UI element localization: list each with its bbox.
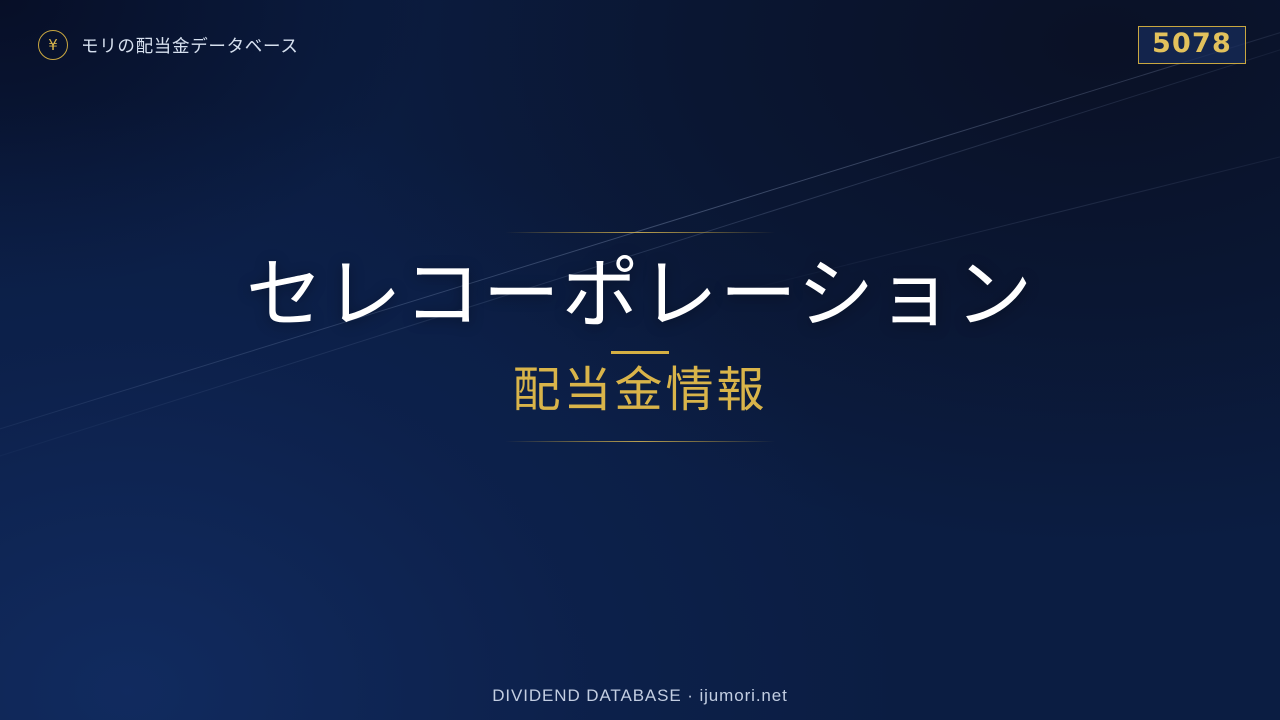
brand-logo[interactable]: ¥ モリの配当金データベース	[38, 30, 299, 60]
header-bar: ¥ モリの配当金データベース 5078	[0, 0, 1280, 90]
brand-name-label: モリの配当金データベース	[81, 33, 299, 58]
page-subtitle: 配当金情報	[512, 364, 767, 418]
title-top-rule	[505, 232, 775, 233]
slide-canvas: ¥ モリの配当金データベース 5078 セレコーポレーション 配当金情報 DIV…	[0, 0, 1280, 720]
title-bottom-rule	[505, 441, 775, 442]
title-block: セレコーポレーション 配当金情報	[0, 232, 1280, 442]
title-divider-bar	[611, 351, 669, 354]
footer-attribution: DIVIDEND DATABASE · ijumori.net	[0, 686, 1280, 706]
company-name-title: セレコーポレーション	[246, 255, 1034, 337]
yen-circle-icon: ¥	[38, 30, 68, 60]
ticker-code-badge: 5078	[1138, 26, 1246, 63]
